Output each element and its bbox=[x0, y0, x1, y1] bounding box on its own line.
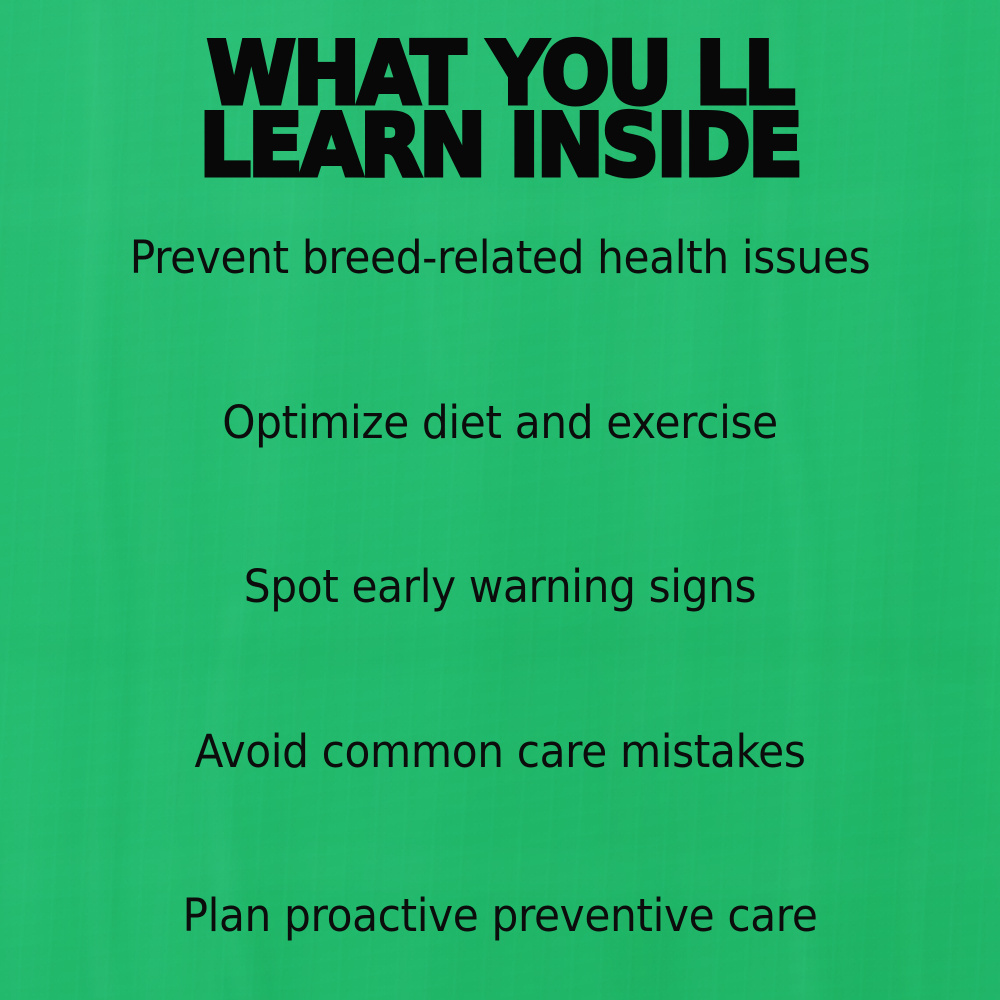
bullet-item-4: Avoid common care mistakes bbox=[30, 726, 970, 778]
bullet-item-1: Prevent breed-related health issues bbox=[30, 232, 970, 284]
bullet-item-2: Optimize diet and exercise bbox=[30, 397, 970, 449]
bullet-item-3: Spot early warning signs bbox=[30, 561, 970, 613]
bullet-item-5: Plan proactive preventive care bbox=[30, 890, 970, 942]
headline: WHAT YOU LL LEARN INSIDE bbox=[0, 38, 1000, 182]
poster-canvas: WHAT YOU LL LEARN INSIDE Prevent breed-r… bbox=[0, 0, 1000, 1000]
bullet-list: Prevent breed-related health issues Opti… bbox=[0, 232, 1000, 942]
poster-content: WHAT YOU LL LEARN INSIDE Prevent breed-r… bbox=[0, 0, 1000, 1000]
headline-line-2: LEARN INSIDE bbox=[35, 110, 965, 182]
